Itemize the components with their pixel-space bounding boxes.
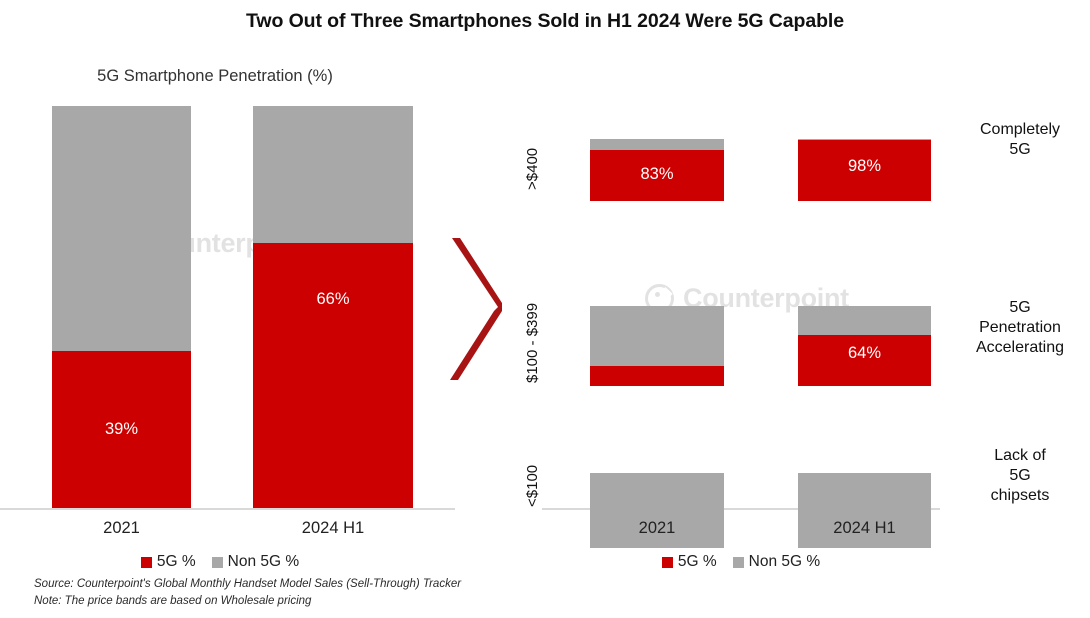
right-bar-band0-2024h1[interactable]: 98% <box>798 139 931 201</box>
right-bar-band0-2021-non5g-segment <box>590 139 724 150</box>
legend-item-5g[interactable]: 5G % <box>662 553 717 571</box>
annotation-line: Accelerating <box>950 338 1090 358</box>
right-bar-band0-2021-value-label: 83% <box>590 165 724 184</box>
right-plot-area: Counterpoint >$400 83% 98% $100 - $399 <box>500 98 940 510</box>
chart-page: Two Out of Three Smartphones Sold in H1 … <box>0 0 1090 618</box>
left-bar-2024h1-value-label: 66% <box>253 290 413 309</box>
left-bar-2024h1[interactable]: 66% <box>253 106 413 508</box>
right-band-label-100-399: $100 - $399 <box>524 288 541 398</box>
left-chart-panel: 5G Smartphone Penetration (%) Counterpoi… <box>0 58 500 578</box>
gray-square-icon <box>212 557 223 568</box>
red-square-icon <box>662 557 673 568</box>
left-bar-2021-5g-segment: 39% <box>52 351 191 508</box>
right-bar-band1-2024h1-5g-segment: 64% <box>798 335 931 386</box>
annotation-line: chipsets <box>950 486 1090 506</box>
right-bar-band0-2021-5g-segment: 83% <box>590 150 724 201</box>
left-bar-2021-non5g-segment <box>52 106 191 351</box>
annotation-line: Penetration <box>950 318 1090 338</box>
annotation-line: 5G <box>950 466 1090 486</box>
legend-label-5g: 5G % <box>678 553 717 571</box>
gray-square-icon <box>733 557 744 568</box>
left-bar-2024h1-5g-segment: 66% <box>253 243 413 508</box>
legend-label-5g: 5G % <box>157 553 196 571</box>
left-plot-area: Counterpoint 39% 66% <box>0 98 460 510</box>
right-chart-panel: Counterpoint >$400 83% 98% $100 - $399 <box>500 58 1090 578</box>
right-annotation-lack-of-chipsets: Lack of 5G chipsets <box>950 446 1090 506</box>
left-bar-2021[interactable]: 39% <box>52 106 191 508</box>
left-bar-2024h1-non5g-segment <box>253 106 413 243</box>
right-category-label-2021: 2021 <box>590 519 724 538</box>
red-square-icon <box>141 557 152 568</box>
chevron-right-icon <box>446 234 506 384</box>
footnote-source: Source: Counterpoint's Global Monthly Ha… <box>34 576 461 593</box>
right-band-label-over-400: >$400 <box>524 136 541 202</box>
legend-item-non5g[interactable]: Non 5G % <box>212 553 300 571</box>
right-band-label-under-100: <$100 <box>524 453 541 519</box>
annotation-line: Completely <box>950 120 1090 140</box>
right-bar-band1-2021-non5g-segment <box>590 306 724 366</box>
legend-item-5g[interactable]: 5G % <box>141 553 196 571</box>
right-bar-band1-2021[interactable] <box>590 306 724 386</box>
footnote-note: Note: The price bands are based on Whole… <box>34 593 461 610</box>
footnotes: Source: Counterpoint's Global Monthly Ha… <box>34 576 461 609</box>
right-category-label-2024h1: 2024 H1 <box>798 519 931 538</box>
right-chart-legend: 5G % Non 5G % <box>542 553 940 571</box>
right-annotation-completely-5g: Completely 5G <box>950 120 1090 160</box>
right-bar-band1-2021-5g-segment <box>590 366 724 386</box>
page-title: Two Out of Three Smartphones Sold in H1 … <box>0 10 1090 33</box>
annotation-line: Lack of <box>950 446 1090 466</box>
right-bar-band0-2024h1-value-label: 98% <box>798 157 931 176</box>
annotation-line: 5G <box>950 140 1090 160</box>
left-x-axis-line <box>0 508 455 510</box>
legend-label-non5g: Non 5G % <box>749 553 821 571</box>
legend-item-non5g[interactable]: Non 5G % <box>733 553 821 571</box>
left-chart-legend: 5G % Non 5G % <box>0 553 440 571</box>
right-bar-band1-2024h1-value-label: 64% <box>798 344 931 363</box>
right-bar-band1-2024h1-non5g-segment <box>798 306 931 335</box>
left-category-label-2021: 2021 <box>52 519 191 538</box>
right-bar-band0-2021[interactable]: 83% <box>590 139 724 201</box>
right-bar-band0-2024h1-5g-segment: 98% <box>798 140 931 201</box>
left-category-label-2024h1: 2024 H1 <box>253 519 413 538</box>
left-chart-subtitle: 5G Smartphone Penetration (%) <box>0 67 430 86</box>
right-bar-band1-2024h1[interactable]: 64% <box>798 306 931 386</box>
annotation-line: 5G <box>950 298 1090 318</box>
left-bar-2021-value-label: 39% <box>52 420 191 439</box>
legend-label-non5g: Non 5G % <box>228 553 300 571</box>
right-annotation-penetration-accelerating: 5G Penetration Accelerating <box>950 298 1090 358</box>
